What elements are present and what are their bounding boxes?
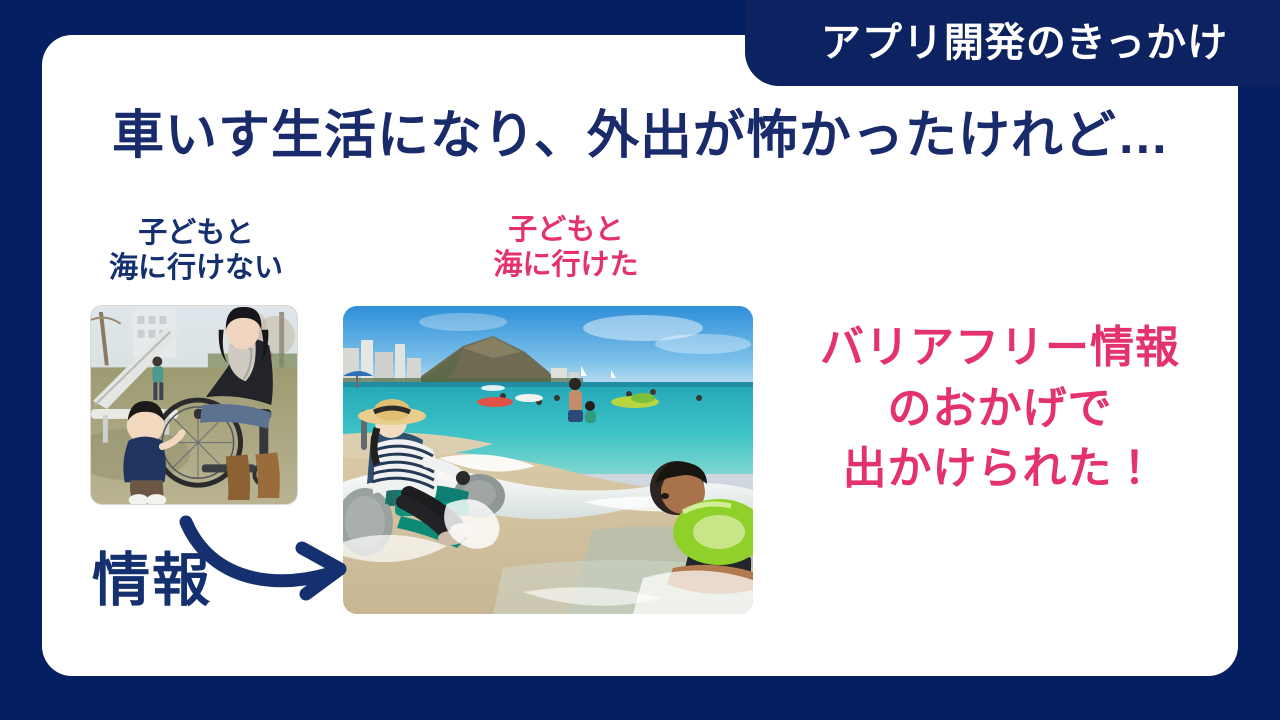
outcome-message-line3: 出かけられた！ bbox=[770, 439, 1230, 500]
caption-before-line1: 子どもと bbox=[78, 216, 314, 251]
outcome-message: バリアフリー情報 のおかげで 出かけられた！ bbox=[770, 318, 1230, 500]
photo-beach-wheelchair bbox=[343, 306, 753, 614]
slide-root: アプリ開発のきっかけ 車いす生活になり、外出が怖かったけれど… 子どもと 海に行… bbox=[0, 0, 1280, 720]
section-badge-label: アプリ開発のきっかけ bbox=[821, 23, 1228, 63]
photo-park-wheelchair-graphic bbox=[91, 306, 297, 504]
caption-after: 子どもと 海に行けた bbox=[440, 213, 692, 284]
caption-after-line1: 子どもと bbox=[440, 213, 692, 248]
outcome-message-line1: バリアフリー情報 bbox=[770, 318, 1230, 379]
section-badge: アプリ開発のきっかけ bbox=[745, 0, 1280, 86]
caption-after-line2: 海に行けた bbox=[440, 248, 692, 283]
page-title: 車いす生活になり、外出が怖かったけれど… bbox=[112, 108, 1170, 165]
photo-beach-wheelchair-graphic bbox=[343, 306, 753, 614]
outcome-message-line2: のおかげで bbox=[770, 379, 1230, 440]
caption-before: 子どもと 海に行けない bbox=[78, 216, 314, 287]
arrow-label-info: 情報 bbox=[92, 552, 212, 610]
caption-before-line2: 海に行けない bbox=[78, 251, 314, 286]
photo-park-wheelchair bbox=[90, 305, 298, 505]
